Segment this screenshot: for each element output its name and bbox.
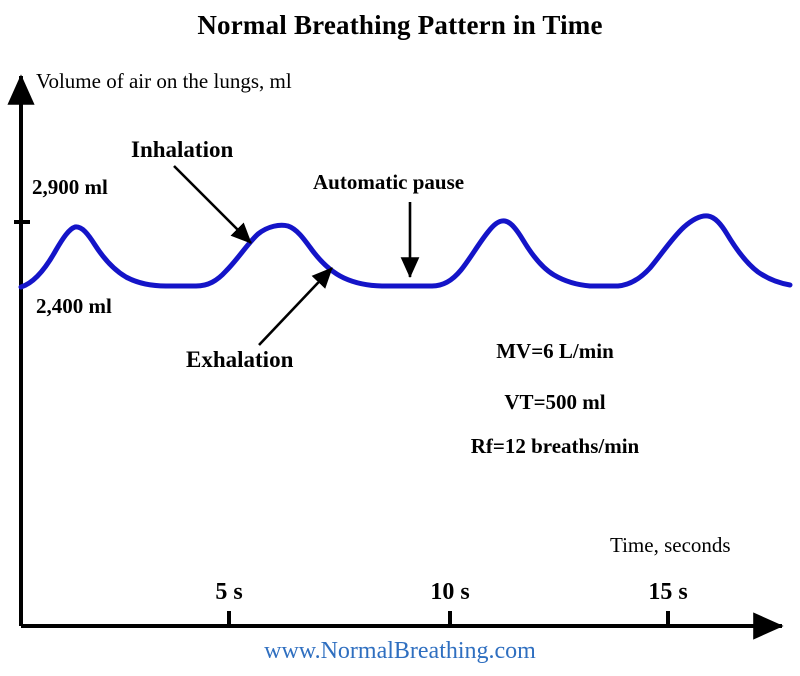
x-tick-label-5s: 5 s <box>189 580 269 604</box>
site-watermark: www.NormalBreathing.com <box>0 639 800 663</box>
annotation-automatic-pause: Automatic pause <box>313 172 464 193</box>
chart-title: Normal Breathing Pattern in Time <box>0 12 800 39</box>
chart-canvas <box>0 0 800 676</box>
x-tick-label-15s: 15 s <box>628 580 708 604</box>
y-axis-label: Volume of air on the lungs, ml <box>36 71 292 92</box>
y-tick-label-2400: 2,400 ml <box>36 296 112 317</box>
breathing-waveform <box>21 216 790 287</box>
inhalation-arrow <box>174 166 251 243</box>
annotation-exhalation: Exhalation <box>186 348 293 371</box>
x-axis-label: Time, seconds <box>610 535 731 556</box>
stat-respiratory-frequency: Rf=12 breaths/min <box>375 436 735 457</box>
breathing-pattern-chart: Normal Breathing Pattern in Time Volume … <box>0 0 800 676</box>
exhalation-arrow <box>259 268 332 345</box>
x-tick-label-10s: 10 s <box>410 580 490 604</box>
y-tick-label-2900: 2,900 ml <box>32 177 108 198</box>
stat-minute-ventilation: MV=6 L/min <box>375 341 735 362</box>
annotation-inhalation: Inhalation <box>131 138 233 161</box>
stat-tidal-volume: VT=500 ml <box>375 392 735 413</box>
